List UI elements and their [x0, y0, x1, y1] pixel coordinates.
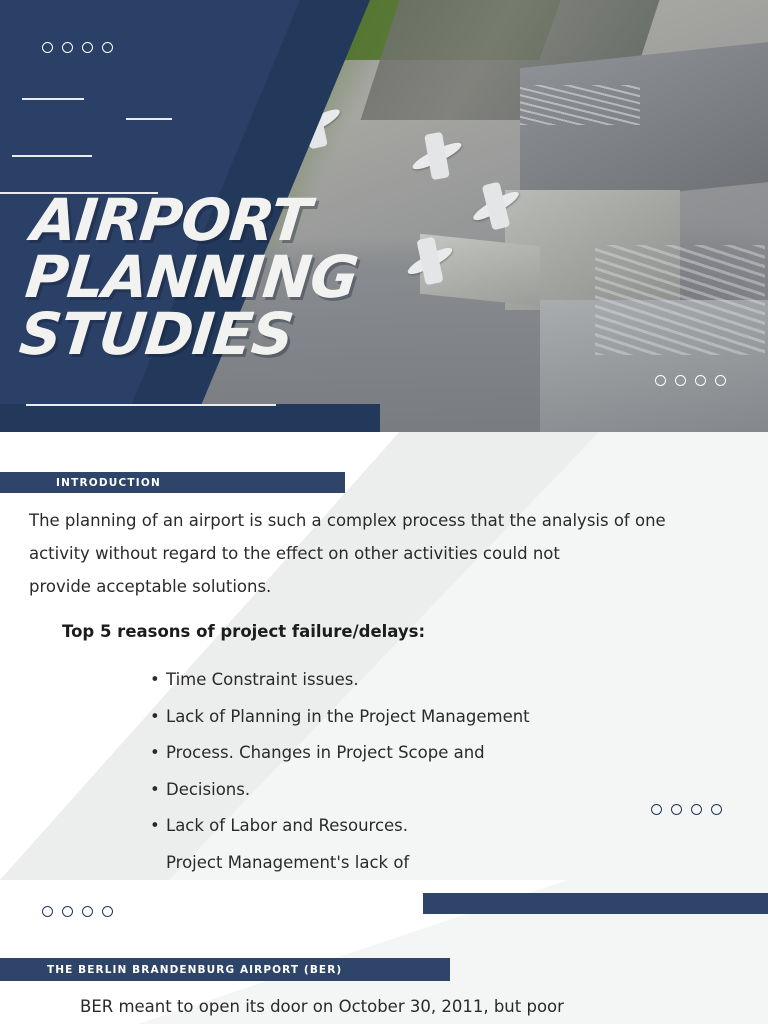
circle-icon: [711, 804, 722, 815]
section-tag-introduction: INTRODUCTION: [0, 472, 345, 493]
document-page: AIRPORT PLANNING STUDIES INTRODUCTION Th…: [0, 0, 768, 1024]
bullet-icon: •: [150, 772, 160, 809]
title-line-2: PLANNING: [23, 249, 360, 306]
decorative-line: [22, 98, 84, 100]
photo-hangar-north: [520, 42, 768, 208]
list-item: •Process. Changes in Project Scope and: [150, 735, 710, 772]
list-item: •Time Constraint issues.: [150, 662, 710, 699]
bullet-icon: •: [150, 808, 160, 845]
list-item: •Decisions.: [150, 772, 710, 809]
decorative-dots-bottom-right: [655, 375, 726, 386]
ber-slide: THE BERLIN BRANDENBURG AIRPORT (BER) BER…: [0, 880, 768, 1024]
introduction-slide: INTRODUCTION The planning of an airport …: [0, 432, 768, 880]
decorative-dots-slide2: [651, 804, 722, 815]
circle-icon: [715, 375, 726, 386]
hero-bottom-bar: [0, 404, 380, 432]
circle-icon: [102, 906, 113, 917]
ber-paragraph: BER meant to open its door on October 30…: [80, 990, 740, 1023]
reasons-list: •Time Constraint issues. •Lack of Planni…: [150, 662, 710, 880]
circle-icon: [102, 42, 113, 53]
section-tag-ber: THE BERLIN BRANDENBURG AIRPORT (BER): [0, 958, 450, 981]
list-item: •Lack of Labor and Resources.: [150, 808, 710, 845]
circle-icon: [42, 42, 53, 53]
photo-parking-lot-north: [520, 85, 640, 125]
circle-icon: [42, 906, 53, 917]
circle-icon: [691, 804, 702, 815]
circle-icon: [82, 42, 93, 53]
photo-parking-lot: [595, 245, 765, 355]
photo-aircraft: [410, 139, 464, 173]
decorative-dots-slide3: [42, 906, 113, 917]
title-line-1: AIRPORT: [29, 192, 366, 249]
circle-icon: [62, 906, 73, 917]
circle-icon: [671, 804, 682, 815]
subheading-top-reasons: Top 5 reasons of project failure/delays:: [62, 622, 425, 641]
list-item-label: Time Constraint issues.: [166, 670, 359, 689]
decorative-line: [26, 404, 276, 406]
bullet-icon: •: [150, 662, 160, 699]
list-item-continuation: Project Management's lack of: [150, 845, 710, 881]
list-item-label: Decisions.: [166, 780, 250, 799]
section-tag-label: THE BERLIN BRANDENBURG AIRPORT (BER): [47, 964, 342, 976]
bullet-icon: •: [150, 735, 160, 772]
circle-icon: [655, 375, 666, 386]
decorative-line: [12, 155, 92, 157]
section-tag-label: INTRODUCTION: [56, 477, 161, 489]
decorative-dots-top-left: [42, 42, 113, 53]
list-item-label: Lack of Labor and Resources.: [166, 816, 408, 835]
introduction-paragraph-overlap: provide acceptable solutions.: [29, 570, 429, 603]
list-item-label: Project Management's lack of: [166, 853, 409, 872]
hero-slide: AIRPORT PLANNING STUDIES: [0, 0, 768, 432]
list-item: •Lack of Planning in the Project Managem…: [150, 699, 710, 736]
circle-icon: [695, 375, 706, 386]
bullet-icon: •: [150, 699, 160, 736]
circle-icon: [62, 42, 73, 53]
introduction-paragraph: The planning of an airport is such a com…: [29, 504, 699, 570]
list-item-label: Lack of Planning in the Project Manageme…: [166, 707, 530, 726]
circle-icon: [675, 375, 686, 386]
circle-icon: [651, 804, 662, 815]
list-item-label: Process. Changes in Project Scope and: [166, 743, 485, 762]
accent-bar-right: [423, 893, 768, 914]
circle-icon: [82, 906, 93, 917]
decorative-line: [126, 118, 172, 120]
title-line-3: STUDIES: [17, 306, 354, 363]
page-title: AIRPORT PLANNING STUDIES: [17, 192, 366, 362]
